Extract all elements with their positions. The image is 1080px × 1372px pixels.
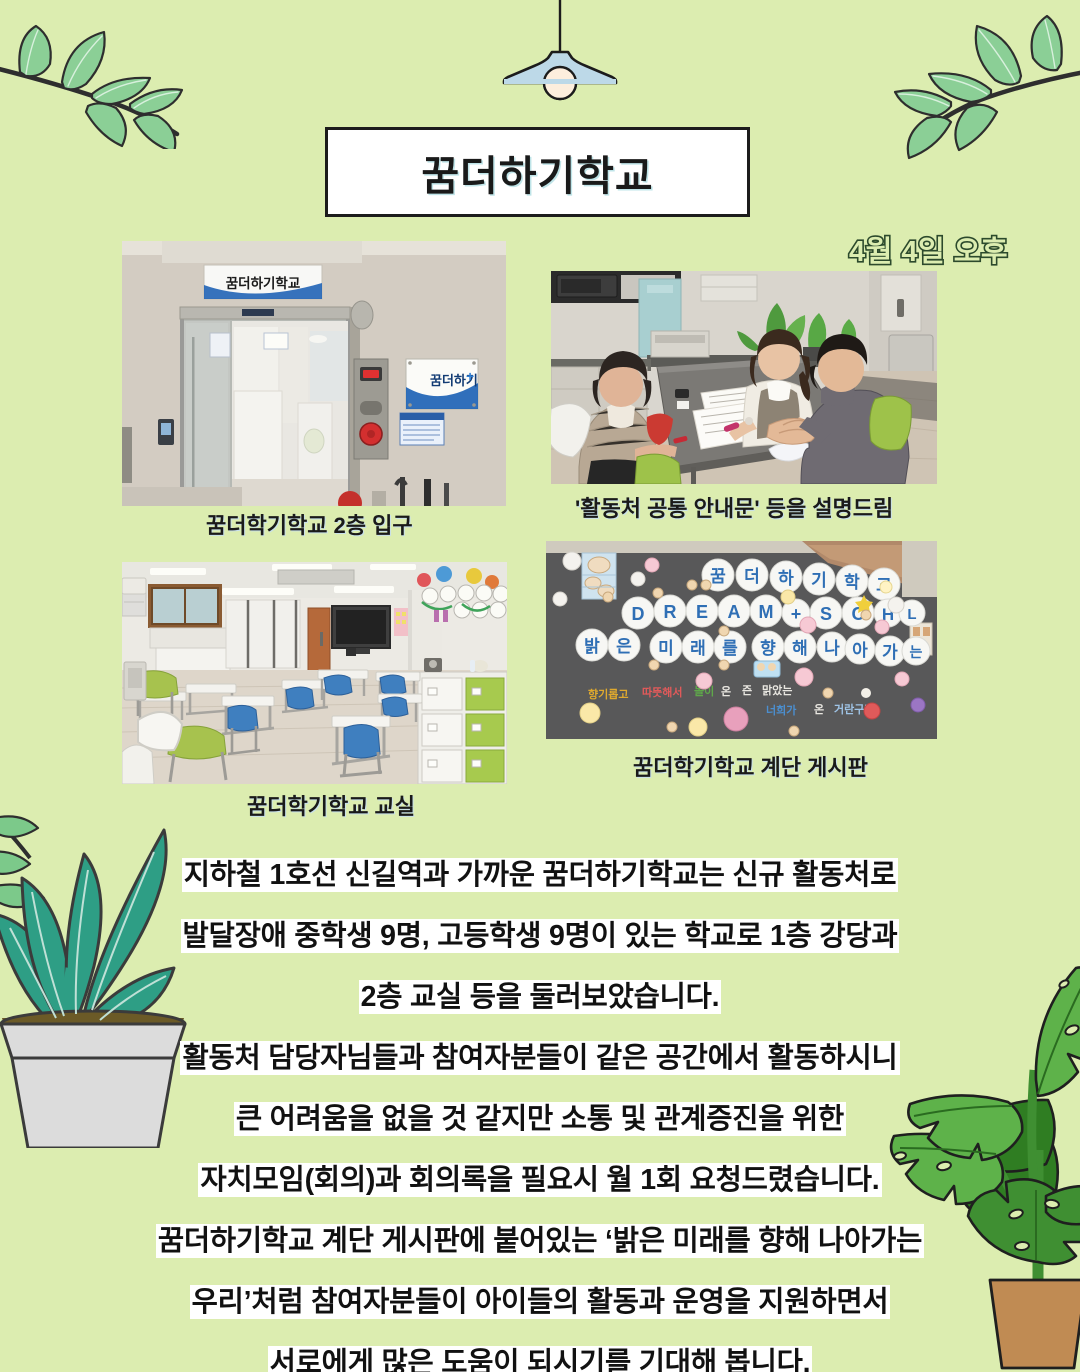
body-paragraph: 지하철 1호선 신길역과 가까운 꿈더하기학교는 신규 활동처로 발달장애 중학… (0, 848, 1080, 1372)
svg-text:향: 향 (760, 638, 776, 658)
svg-text:M: M (759, 602, 774, 622)
body-line-text: 발달장애 중학생 9명, 고등학생 9명이 있는 학교로 1층 강당과 (181, 919, 900, 953)
body-line-text: 지하철 1호선 신길역과 가까운 꿈더하기학교는 신규 활동처로 (182, 858, 898, 892)
svg-text:꿈: 꿈 (710, 567, 726, 586)
page-title-box: 꿈더하기학교 (325, 127, 750, 217)
svg-text:기: 기 (811, 571, 827, 590)
body-line: 우리’처럼 참여자분들이 아이들의 활동과 운영을 지원하면서 (0, 1275, 1080, 1334)
photo-caption-entrance: 꿈더학기학교 2층 입구 (206, 508, 413, 540)
svg-text:꿈더하기학교: 꿈더하기학교 (226, 275, 301, 291)
svg-text:를: 를 (722, 639, 738, 658)
leaf-branch-top-right-icon (855, 0, 1080, 165)
photo-school-entrance: 꿈더하기학교 (122, 241, 506, 506)
body-line: 큰 어려움을 없을 것 같지만 소통 및 관계증진을 위한 (0, 1092, 1080, 1151)
pendant-lamp-icon (500, 0, 620, 110)
body-line: 2층 교실 등을 둘러보았습니다. (0, 970, 1080, 1029)
photo-caption-classroom: 꿈더학기학교 교실 (247, 789, 415, 821)
body-line: 서로에게 많은 도움이 되시기를 기대해 봅니다. (0, 1336, 1080, 1372)
svg-text:해: 해 (792, 639, 808, 658)
date-label: 4월 4일 오후 (849, 228, 1008, 270)
photo-caption-meeting: '활동처 공통 안내문' 등을 설명드림 (575, 491, 893, 523)
svg-text:R: R (664, 602, 677, 622)
photo-stair-bulletin-board: 꿈더하 기학교 DRE AM+ SC H L (546, 541, 937, 739)
svg-text:L: L (907, 606, 916, 623)
svg-text:아: 아 (852, 641, 868, 660)
svg-text:즌: 즌 (742, 684, 752, 697)
svg-text:래: 래 (690, 639, 706, 658)
body-line-text: 자치모임(회의)과 회의록을 필요시 월 1회 요청드렸습니다. (198, 1163, 881, 1197)
svg-text:가: 가 (882, 643, 898, 662)
svg-text:S: S (820, 604, 832, 624)
body-line: 지하철 1호선 신길역과 가까운 꿈더하기학교는 신규 활동처로 (0, 848, 1080, 907)
photo-classroom (122, 562, 507, 784)
svg-text:학: 학 (844, 573, 860, 592)
svg-text:온: 온 (721, 685, 731, 698)
svg-text:는: 는 (910, 644, 923, 660)
svg-text:은: 은 (616, 637, 632, 656)
leaf-branch-top-left-icon (0, 0, 222, 149)
svg-text:향기롭고: 향기롭고 (588, 687, 628, 701)
body-line-text: 큰 어려움을 없을 것 같지만 소통 및 관계증진을 위한 (234, 1102, 846, 1136)
svg-text:D: D (632, 604, 645, 624)
photo-meeting-session (551, 271, 937, 484)
svg-text:A: A (728, 602, 741, 622)
body-line: 활동처 담당자님들과 참여자분들이 같은 공간에서 활동하시니 (0, 1031, 1080, 1090)
svg-text:더: 더 (744, 567, 760, 586)
body-line-text: 활동처 담당자님들과 참여자분들이 같은 공간에서 활동하시니 (180, 1041, 899, 1075)
body-line-text: 2층 교실 등을 둘러보았습니다. (359, 980, 722, 1014)
body-line: 발달장애 중학생 9명, 고등학생 9명이 있는 학교로 1층 강당과 (0, 909, 1080, 968)
body-line-text: 우리’처럼 참여자분들이 아이들의 활동과 운영을 지원하면서 (190, 1285, 891, 1319)
svg-text:너희가: 너희가 (766, 703, 796, 717)
svg-text:따뜻해서: 따뜻해서 (642, 685, 682, 699)
svg-text:E: E (696, 602, 708, 622)
svg-text:온: 온 (814, 703, 824, 716)
svg-text:+: + (791, 604, 802, 624)
svg-text:미: 미 (658, 639, 674, 658)
svg-text:+: + (466, 368, 474, 384)
photo-caption-board: 꿈더학기학교 계단 게시판 (633, 750, 868, 782)
body-line: 자치모임(회의)과 회의록을 필요시 월 1회 요청드렸습니다. (0, 1153, 1080, 1212)
svg-text:밝: 밝 (584, 637, 600, 656)
body-line: 꿈더하기학교 계단 게시판에 붙어있는 ‘밝은 미래를 향해 나아가는 (0, 1214, 1080, 1273)
page-title: 꿈더하기학교 (421, 142, 653, 202)
svg-text:맑았는: 맑았는 (762, 684, 792, 697)
body-line-text: 꿈더하기학교 계단 게시판에 붙어있는 ‘밝은 미래를 향해 나아가는 (156, 1224, 924, 1258)
body-line-text: 서로에게 많은 도움이 되시기를 기대해 봅니다. (268, 1346, 813, 1372)
svg-text:하: 하 (778, 569, 794, 588)
svg-text:나: 나 (824, 639, 840, 658)
